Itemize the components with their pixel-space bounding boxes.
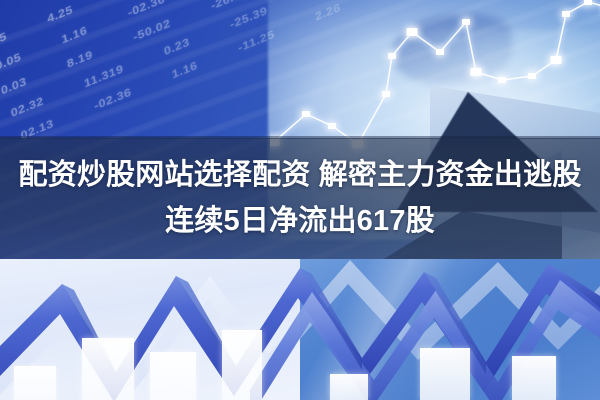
glow-node-marker (382, 91, 390, 97)
bar-chart-bar (512, 356, 556, 400)
glow-node-marker (462, 19, 470, 25)
bar-chart-bar (14, 366, 56, 400)
glow-node-marker (302, 111, 310, 117)
glow-node-marker (388, 53, 396, 59)
glow-node-marker (471, 68, 482, 76)
page-title: 配资炒股网站选择配资 解密主力资金出逃股 连续5日净流出617股 (0, 152, 600, 244)
glow-node-marker (584, 0, 592, 5)
glow-node-marker (407, 28, 418, 36)
bar-chart-bar (150, 352, 196, 400)
white-bar-chart (0, 300, 600, 400)
glow-node-marker (436, 49, 444, 55)
bar-chart-bar (222, 330, 262, 400)
glow-node-marker (528, 73, 536, 79)
bar-chart-bar (82, 338, 134, 400)
glow-node-marker (551, 56, 562, 64)
glow-node-marker (562, 11, 570, 17)
glow-node-marker (328, 123, 336, 129)
glow-node-marker (498, 77, 506, 83)
bar-chart-bar (420, 348, 470, 400)
stock-news-banner: -02.36+45.024.3621.15-50.02-11.25-02.36+… (0, 0, 600, 400)
bar-chart-bar (330, 374, 368, 400)
